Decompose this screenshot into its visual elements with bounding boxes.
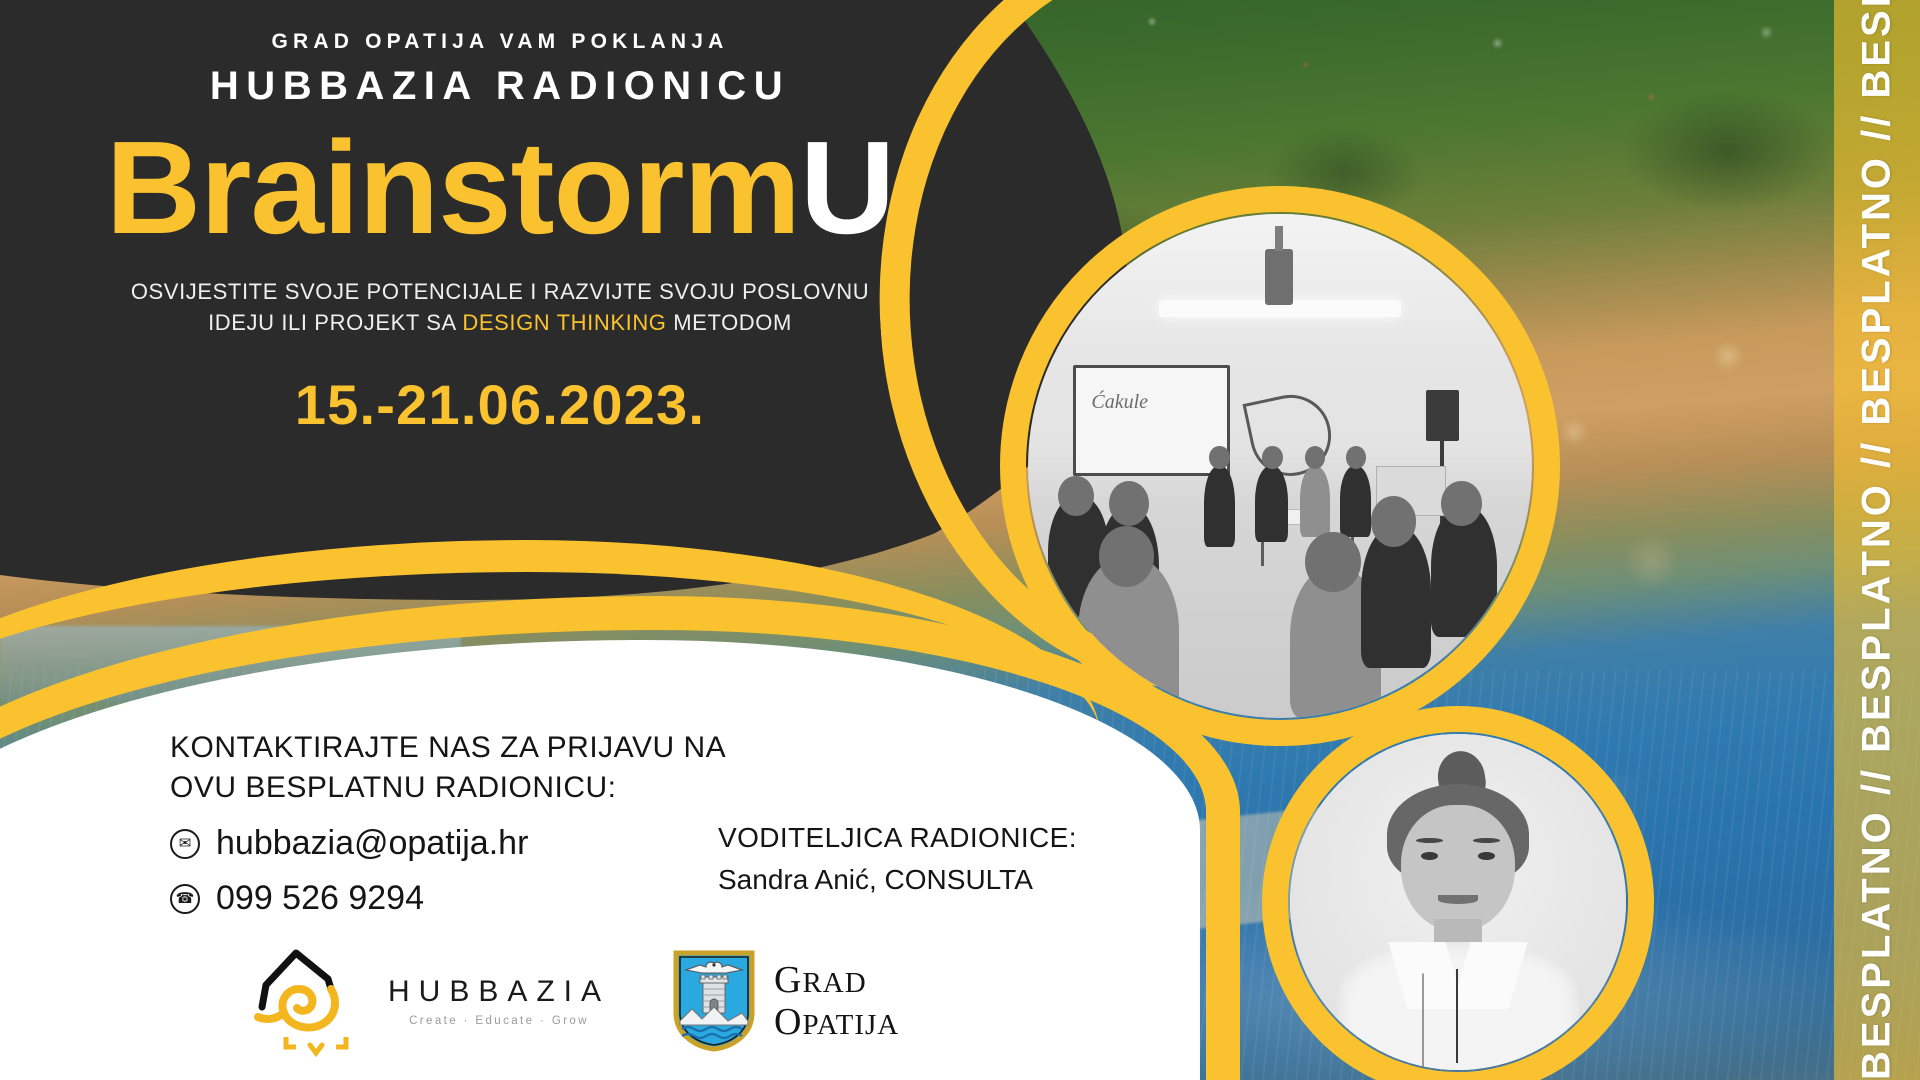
contact-email-value: hubbazia@opatija.hr bbox=[216, 824, 528, 863]
portrait-eye-left bbox=[1421, 852, 1438, 860]
tagline-highlight: DESIGN THINKING bbox=[462, 310, 666, 335]
portrait-brow-right bbox=[1473, 838, 1500, 843]
hubbazia-wordmark: HUBBAZIA Create · Educate · Grow bbox=[388, 975, 610, 1027]
contact-phone-value: 099 526 9294 bbox=[216, 879, 424, 918]
audience-4-head bbox=[1305, 532, 1360, 592]
panelist-4-head bbox=[1346, 446, 1366, 469]
wall-logo-icon bbox=[1242, 388, 1338, 484]
portrait-scene bbox=[1290, 734, 1626, 1070]
opatija-line-1-cap: G bbox=[774, 959, 802, 1001]
panelist-4 bbox=[1340, 466, 1370, 537]
contact-heading: KONTAKTIRAJTE NAS ZA PRIJAVU NA OVU BESP… bbox=[170, 728, 726, 808]
panelist-3-head bbox=[1305, 446, 1325, 469]
portrait-brow-left bbox=[1416, 838, 1443, 843]
presentation-screen bbox=[1073, 365, 1229, 476]
pa-speaker bbox=[1426, 390, 1459, 440]
brand-title: BrainstormU bbox=[40, 117, 960, 260]
workshop-photo bbox=[1028, 214, 1532, 718]
panelist-2 bbox=[1255, 466, 1288, 542]
opatija-line-1: GRAD bbox=[774, 961, 899, 999]
audience-5-head bbox=[1371, 496, 1416, 546]
panelist-2-head bbox=[1262, 446, 1282, 469]
projector-icon bbox=[1265, 249, 1293, 304]
opatija-coat-of-arms-icon bbox=[672, 949, 756, 1053]
audience-3-head bbox=[1099, 526, 1154, 586]
hubbazia-logo: HUBBAZIA Create · Educate · Grow bbox=[252, 940, 632, 1062]
audience-6 bbox=[1431, 506, 1497, 637]
opatija-line-2-cap: O bbox=[774, 1001, 802, 1043]
secondary-headline: HUBBAZIA RADIONICU bbox=[40, 64, 960, 109]
panelist-1 bbox=[1204, 466, 1234, 547]
event-date: 15.-21.06.2023. bbox=[40, 372, 960, 437]
portrait-face bbox=[1401, 805, 1515, 933]
contact-phone-row[interactable]: ☎ 099 526 9294 bbox=[170, 879, 726, 918]
envelope-icon: ✉ bbox=[170, 829, 200, 859]
hubbazia-name: HUBBAZIA bbox=[388, 975, 610, 1009]
panelist-1-head bbox=[1209, 446, 1229, 469]
portrait-mouth bbox=[1438, 895, 1478, 904]
contact-email-row[interactable]: ✉ hubbazia@opatija.hr bbox=[170, 824, 726, 863]
tagline-text: OSVIJESTITE SVOJE POTENCIJALE I RAZVIJTE… bbox=[110, 276, 890, 338]
opatija-line-1-rest: RAD bbox=[802, 967, 866, 999]
contact-block: KONTAKTIRAJTE NAS ZA PRIJAVU NA OVU BESP… bbox=[170, 728, 726, 918]
audience-1-head bbox=[1058, 476, 1093, 516]
brand-title-tail: U bbox=[800, 114, 894, 261]
hubbazia-mark-icon bbox=[252, 945, 370, 1057]
opatija-line-2-rest: PATIJA bbox=[802, 1009, 899, 1041]
opatija-line-2: OPATIJA bbox=[774, 1003, 899, 1041]
portrait-lanyard bbox=[1456, 969, 1458, 1063]
opatija-wordmark: GRAD OPATIJA bbox=[774, 961, 899, 1041]
besplatno-banner-text: BESPLATNO // BESPLATNO // BESPLATNO // B… bbox=[1855, 0, 1900, 1080]
tagline-part-2: METODOM bbox=[667, 310, 792, 335]
hubbazia-tagline: Create · Educate · Grow bbox=[388, 1015, 610, 1027]
grad-opatija-logo: GRAD OPATIJA bbox=[672, 936, 972, 1066]
workshop-room-scene bbox=[1028, 214, 1532, 718]
panelist-3 bbox=[1300, 466, 1330, 537]
leader-block: VODITELJICA RADIONICE: Sandra Anić, CONS… bbox=[718, 822, 1077, 896]
audience-2-head bbox=[1109, 481, 1149, 526]
portrait-eye-right bbox=[1478, 852, 1495, 860]
leader-portrait-photo bbox=[1290, 734, 1626, 1070]
besplatno-vertical-banner: BESPLATNO // BESPLATNO // BESPLATNO // B… bbox=[1834, 0, 1920, 1080]
brand-title-main: Brainstorm bbox=[106, 114, 800, 261]
audience-5 bbox=[1361, 526, 1432, 667]
audience-6-head bbox=[1441, 481, 1481, 526]
kicker-text: GRAD OPATIJA VAM POKLANJA bbox=[40, 30, 960, 54]
phone-icon: ☎ bbox=[170, 884, 200, 914]
poster-canvas: GRAD OPATIJA VAM POKLANJA HUBBAZIA RADIO… bbox=[0, 0, 1920, 1080]
hero-text-block: GRAD OPATIJA VAM POKLANJA HUBBAZIA RADIO… bbox=[0, 0, 1000, 437]
leader-name: Sandra Anić, CONSULTA bbox=[718, 864, 1077, 896]
leader-heading: VODITELJICA RADIONICE: bbox=[718, 822, 1077, 854]
